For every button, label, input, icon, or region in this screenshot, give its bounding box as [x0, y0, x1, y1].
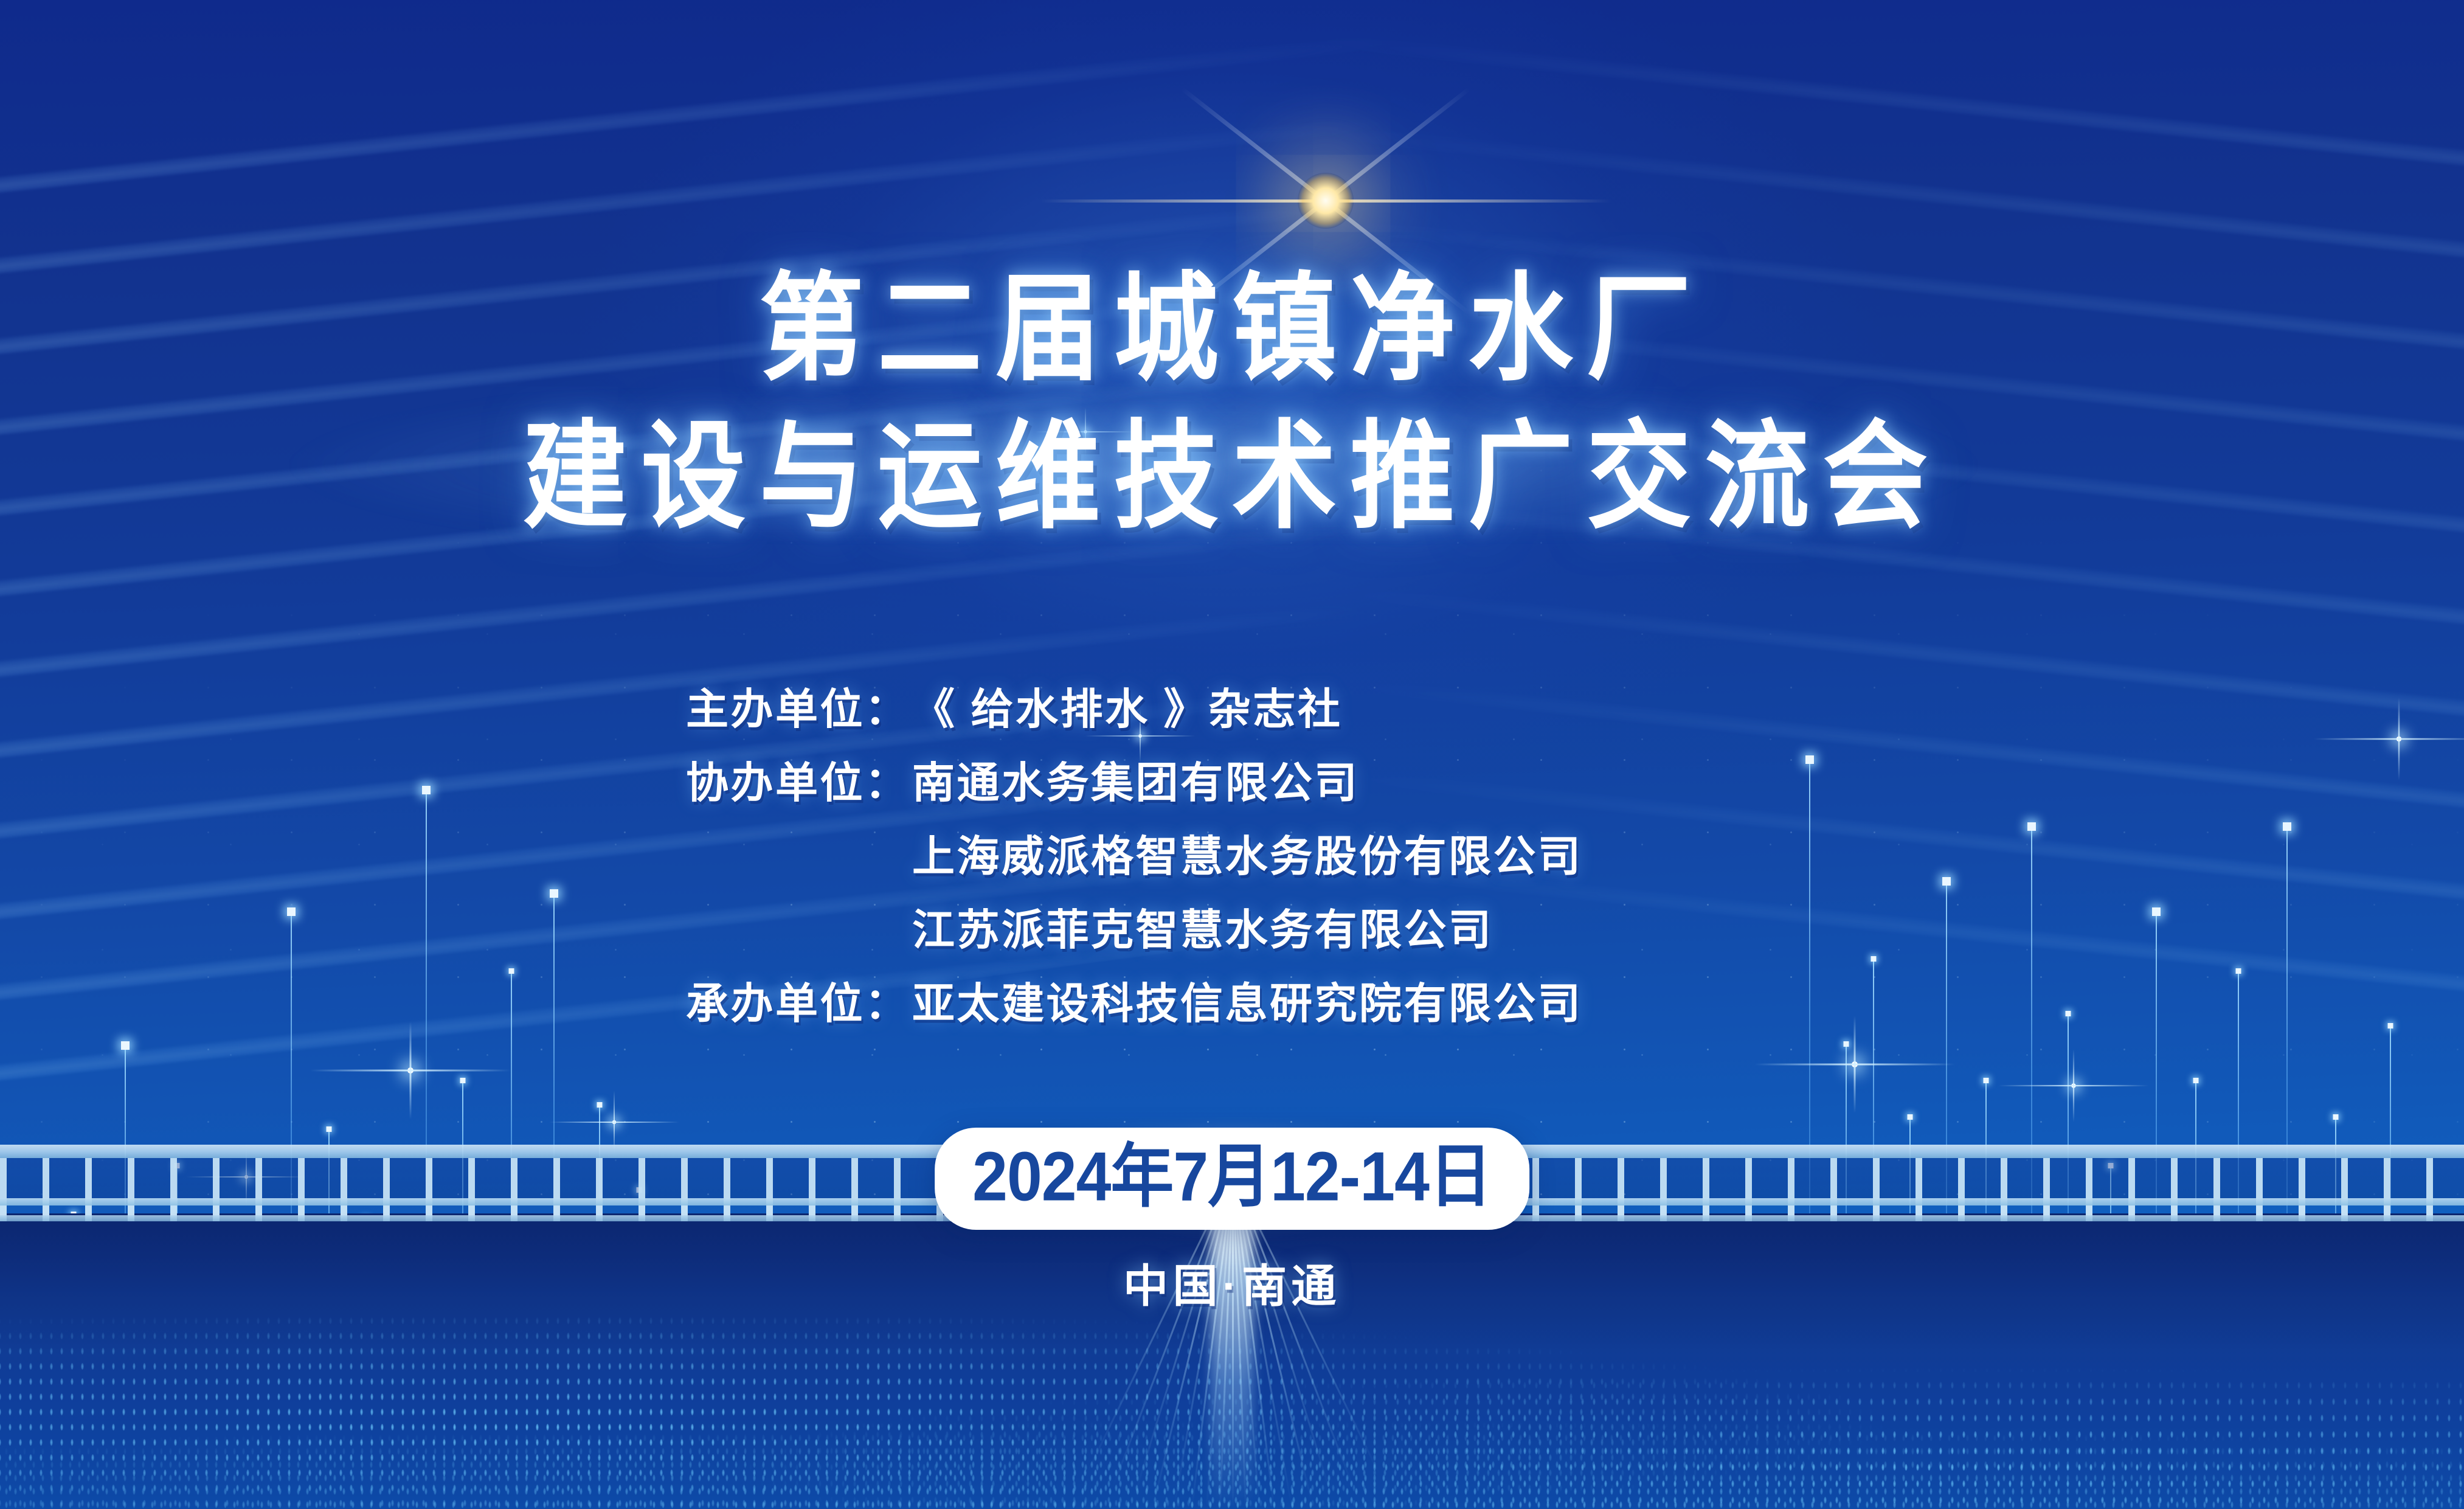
- title-line-1: 第二届城镇净水厂: [0, 260, 2464, 398]
- organizer-value: 《 给水排水 》杂志社: [912, 675, 1342, 737]
- organizer-value: 江苏派菲克智慧水务有限公司: [912, 896, 1493, 957]
- organizer-row: 协办单位： 江苏派菲克智慧水务有限公司: [686, 896, 1583, 957]
- organizer-row: 主办单位： 《 给水排水 》杂志社: [686, 675, 1583, 737]
- organizer-value: 上海威派格智慧水务股份有限公司: [912, 822, 1583, 884]
- organizer-list: 主办单位： 《 给水排水 》杂志社 协办单位： 南通水务集团有限公司 协办单位：…: [686, 675, 1583, 1043]
- organizer-value: 亚太建设科技信息研究院有限公司: [912, 970, 1583, 1031]
- poster-title: 第二届城镇净水厂 建设与运维技术推广交流会: [0, 268, 2464, 539]
- organizer-label: 主办单位：: [686, 675, 887, 737]
- organizer-label: 承办单位：: [686, 970, 887, 1031]
- organizer-row: 协办单位： 南通水务集团有限公司: [686, 749, 1583, 810]
- organizer-row: 协办单位： 上海威派格智慧水务股份有限公司: [686, 822, 1583, 884]
- event-date-badge: 2024年7月12-14日: [935, 1128, 1529, 1230]
- event-date-text: 2024年7月12-14日: [972, 1134, 1492, 1221]
- organizer-value: 南通水务集团有限公司: [912, 749, 1359, 810]
- organizer-row: 承办单位： 亚太建设科技信息研究院有限公司: [686, 970, 1583, 1031]
- title-line-2: 建设与运维技术推广交流会: [0, 408, 2464, 546]
- organizer-label: 协办单位：: [686, 749, 887, 810]
- event-location: 中国·南通: [0, 1250, 2464, 1315]
- conference-poster: 第二届城镇净水厂 建设与运维技术推广交流会 主办单位： 《 给水排水 》杂志社 …: [0, 0, 2464, 1509]
